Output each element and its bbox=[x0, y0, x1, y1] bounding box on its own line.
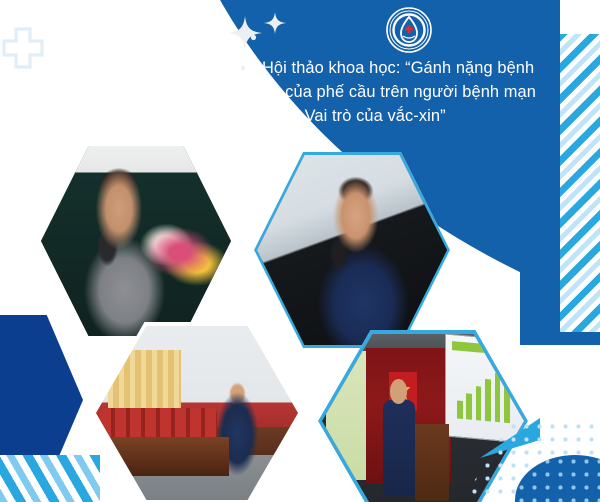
photo-conference-room: Conference hall with red chairs, wooden … bbox=[92, 322, 302, 502]
diagonal-stripes-right-decoration bbox=[560, 32, 600, 332]
photo-detail-chart-bar bbox=[486, 380, 492, 422]
sparkle-dot-icon bbox=[240, 58, 246, 64]
photo-detail-chart-bar bbox=[495, 374, 501, 423]
hospital-seal-logo bbox=[383, 6, 435, 54]
photo-image bbox=[41, 146, 231, 336]
poster-title: Hội thảo khoa học: “Gánh nặng bệnh tật c… bbox=[262, 57, 547, 128]
photo-detail-speaker bbox=[383, 400, 415, 496]
stripes-right-top-mask bbox=[560, 0, 600, 34]
poster-title-line: tật của phế cầu trên người bệnh mạn bbox=[262, 81, 547, 105]
photo-detail-podium bbox=[415, 424, 449, 501]
photo-detail-chart-bar bbox=[476, 387, 482, 421]
photo-detail-chart-bar bbox=[467, 393, 473, 420]
photo-detail-green-banner bbox=[326, 351, 366, 480]
photo-detail-chairs bbox=[100, 408, 217, 439]
photo-detail-table bbox=[96, 437, 229, 475]
photo-detail-chart-bar bbox=[457, 401, 463, 420]
sparkle-dot-icon bbox=[250, 28, 257, 35]
poster-title-line: tính - Vai trò của vắc-xin” bbox=[262, 105, 547, 129]
photo-speaker-grey-suit: Speaker in grey suit holding microphone … bbox=[38, 143, 234, 339]
sparkle-star-small-icon bbox=[264, 12, 286, 34]
poster-title-line: Hội thảo khoa học: “Gánh nặng bệnh bbox=[262, 57, 547, 81]
diagonal-stripes-bottom-left-decoration bbox=[0, 455, 100, 502]
conference-poster: Hội thảo khoa học: “Gánh nặng bệnh tật c… bbox=[0, 0, 600, 502]
medical-cross-outline-icon bbox=[2, 27, 44, 69]
photo-image bbox=[96, 326, 298, 500]
